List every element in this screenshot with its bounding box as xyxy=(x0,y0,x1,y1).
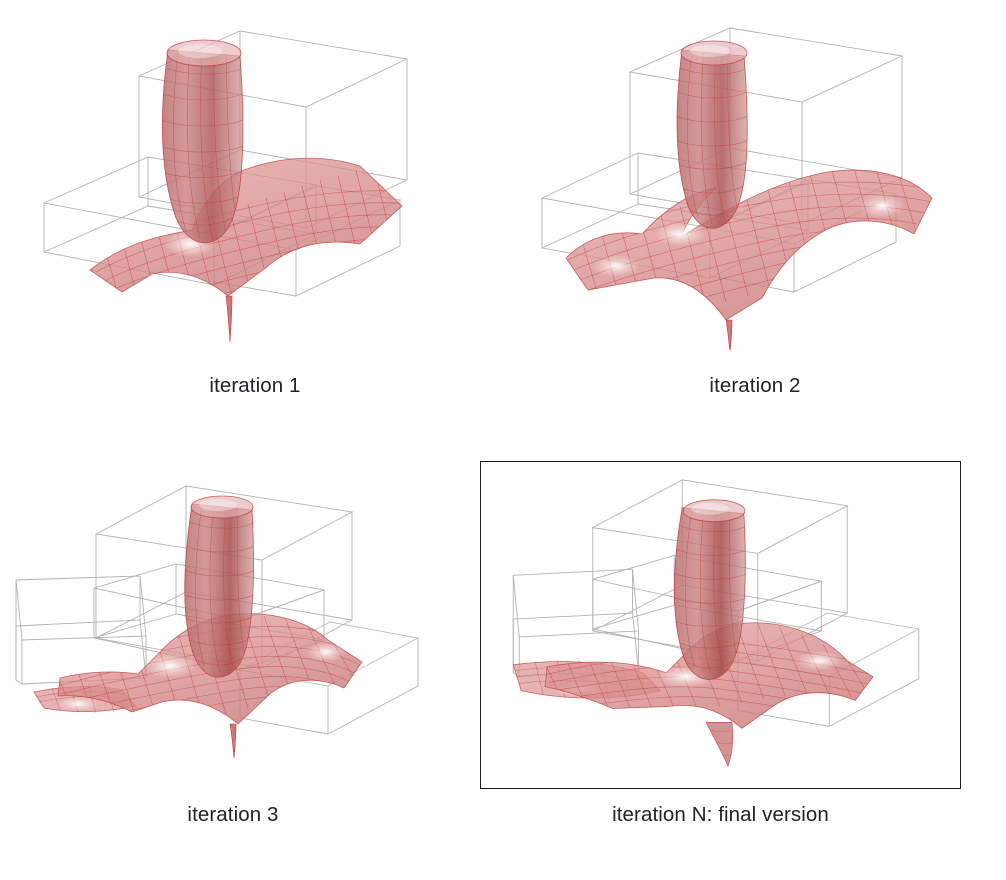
render-canvas-iteration-1 xyxy=(30,20,480,350)
vertical-tube xyxy=(675,41,748,228)
tail-fin xyxy=(706,722,733,766)
caption-iteration-3: iteration 3 xyxy=(8,802,458,828)
vertical-tube xyxy=(160,40,244,243)
panel-iteration-1 xyxy=(30,20,480,350)
caption-iteration-2: iteration 2 xyxy=(530,373,980,399)
horizontal-plate xyxy=(560,168,934,322)
tail-spike xyxy=(230,724,236,758)
figure-grid: iteration 1 xyxy=(0,0,1006,880)
render-canvas-iteration-n xyxy=(481,462,960,788)
tail-spike xyxy=(226,296,232,342)
panel-iteration-2 xyxy=(530,20,980,350)
horizontal-plate xyxy=(86,158,422,328)
vertical-tube xyxy=(182,496,256,677)
tail-spike xyxy=(726,320,732,350)
panel-iteration-3 xyxy=(8,480,458,785)
caption-iteration-1: iteration 1 xyxy=(30,373,480,399)
render-canvas-iteration-3 xyxy=(8,480,458,785)
tilted-wire-box xyxy=(16,576,146,684)
vertical-tube xyxy=(672,500,748,680)
render-canvas-iteration-2 xyxy=(530,20,980,350)
caption-iteration-n: iteration N: final version xyxy=(480,802,961,828)
panel-iteration-n xyxy=(480,461,961,789)
